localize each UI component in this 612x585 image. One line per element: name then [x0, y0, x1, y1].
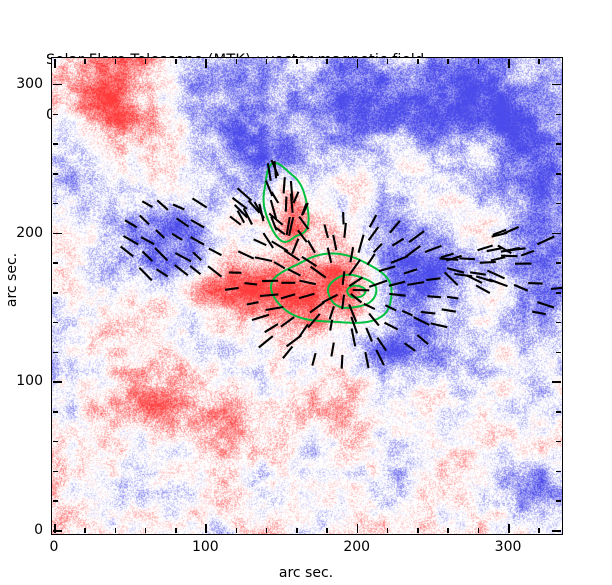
- x-major-tick: [508, 524, 510, 533]
- y-minor-tick: [53, 352, 58, 354]
- field-vector: [374, 244, 382, 253]
- field-vector: [191, 237, 205, 245]
- field-vector: [331, 343, 333, 357]
- x-minor-tick: [236, 528, 238, 533]
- field-vector: [155, 248, 168, 261]
- y-major-tick: [552, 84, 561, 86]
- x-minor-tick: [145, 528, 147, 533]
- field-vector: [406, 246, 421, 257]
- field-vector: [281, 294, 295, 298]
- field-vector: [350, 247, 353, 262]
- x-minor-tick: [296, 59, 298, 64]
- field-vector: [366, 328, 372, 342]
- field-vector: [124, 236, 139, 245]
- field-vector: [225, 288, 239, 290]
- field-vector: [551, 288, 562, 289]
- field-vector: [343, 212, 344, 224]
- field-vector: [193, 198, 207, 207]
- y-minor-tick: [53, 471, 58, 473]
- y-major-tick: [53, 530, 62, 532]
- field-vector: [294, 192, 299, 203]
- y-minor-tick: [556, 322, 561, 324]
- field-vector: [156, 230, 164, 238]
- x-major-tick: [205, 59, 207, 68]
- field-vector: [480, 262, 496, 263]
- field-vector: [255, 257, 272, 261]
- field-vector: [172, 234, 182, 240]
- field-vector: [299, 217, 308, 230]
- x-minor-tick: [417, 528, 419, 533]
- y-minor-tick: [53, 411, 58, 413]
- field-vector: [275, 227, 285, 234]
- field-vector: [191, 220, 204, 227]
- field-vector: [193, 252, 201, 260]
- field-vector: [409, 231, 424, 242]
- field-vector: [330, 306, 334, 319]
- field-vector: [537, 302, 554, 307]
- field-vector: [259, 336, 273, 347]
- x-minor-tick: [266, 528, 268, 533]
- field-vector: [439, 258, 458, 259]
- x-major-tick: [357, 524, 359, 533]
- field-vector: [427, 296, 441, 297]
- x-minor-tick: [296, 528, 298, 533]
- field-vector: [230, 216, 241, 224]
- field-vector: [288, 269, 300, 275]
- field-vector: [266, 307, 284, 310]
- field-vector: [177, 218, 189, 226]
- field-vector: [311, 267, 326, 278]
- field-vector: [514, 285, 528, 291]
- field-vector: [139, 268, 152, 281]
- y-minor-tick: [53, 441, 58, 443]
- y-major-tick: [552, 530, 561, 532]
- x-axis-title: arc sec.: [0, 565, 612, 581]
- x-minor-tick: [387, 528, 389, 533]
- field-vector: [208, 266, 222, 277]
- field-vector: [265, 324, 278, 332]
- y-tick-label: 0: [0, 522, 43, 538]
- field-vector: [447, 268, 464, 273]
- field-vector: [392, 239, 403, 246]
- field-vector: [470, 272, 486, 274]
- x-tick-label: 0: [50, 539, 59, 555]
- y-tick-label: 200: [0, 225, 43, 241]
- field-vector: [308, 241, 315, 253]
- y-minor-tick: [556, 262, 561, 264]
- field-vector: [328, 248, 332, 263]
- field-vector: [299, 294, 314, 298]
- field-vector: [376, 350, 384, 365]
- x-minor-tick: [175, 528, 177, 533]
- field-vector: [157, 269, 168, 276]
- field-vector: [292, 239, 298, 254]
- field-vector: [405, 343, 416, 351]
- field-vector: [312, 353, 315, 366]
- y-minor-tick: [556, 352, 561, 354]
- field-vector: [274, 262, 285, 268]
- contour-main-spot-core: [347, 286, 365, 298]
- y-minor-tick: [556, 203, 561, 205]
- field-vector: [141, 237, 154, 244]
- x-minor-tick: [478, 528, 480, 533]
- x-minor-tick: [538, 59, 540, 64]
- x-minor-tick: [115, 528, 117, 533]
- field-vector: [425, 246, 442, 252]
- field-vector: [417, 335, 428, 344]
- y-major-tick: [53, 84, 62, 86]
- x-major-tick: [54, 59, 56, 68]
- x-major-tick: [357, 59, 359, 68]
- field-vector: [421, 312, 435, 314]
- field-vector: [281, 317, 294, 327]
- field-vector: [324, 225, 328, 238]
- field-vector: [369, 227, 379, 240]
- field-vector: [365, 352, 368, 368]
- field-vector: [370, 215, 377, 227]
- field-vector: [343, 271, 345, 285]
- y-minor-tick: [53, 500, 58, 502]
- field-vector: [359, 235, 364, 253]
- field-vector: [260, 294, 278, 296]
- field-vector: [441, 254, 454, 258]
- field-vector: [352, 328, 356, 346]
- x-tick-label: 100: [192, 539, 219, 555]
- field-vector: [140, 215, 149, 224]
- x-minor-tick: [84, 59, 86, 64]
- field-vector: [414, 317, 430, 325]
- plot-area: [51, 57, 563, 535]
- x-major-tick: [205, 524, 207, 533]
- field-vector: [368, 254, 375, 265]
- x-minor-tick: [115, 59, 117, 64]
- y-major-tick: [53, 233, 62, 235]
- y-minor-tick: [53, 114, 58, 116]
- field-vector: [404, 269, 417, 273]
- y-major-tick: [552, 233, 561, 235]
- field-vector: [175, 253, 191, 261]
- x-minor-tick: [175, 59, 177, 64]
- field-vector: [175, 265, 188, 275]
- x-tick-label: 300: [495, 539, 522, 555]
- field-vector: [310, 302, 324, 313]
- x-tick-label: 200: [343, 539, 370, 555]
- x-minor-tick: [236, 59, 238, 64]
- y-tick-label: 300: [0, 76, 43, 92]
- y-major-tick: [552, 381, 561, 383]
- field-vector: [459, 258, 475, 259]
- field-vector: [209, 249, 222, 256]
- field-vector: [379, 266, 395, 271]
- y-minor-tick: [556, 292, 561, 294]
- field-vector: [266, 181, 273, 197]
- field-vector: [272, 192, 279, 203]
- field-vector: [431, 323, 448, 327]
- field-vector: [344, 223, 346, 238]
- field-vector: [121, 247, 134, 257]
- x-minor-tick: [387, 59, 389, 64]
- field-vector: [426, 278, 440, 280]
- field-vector: [501, 256, 518, 257]
- field-vector: [238, 251, 254, 258]
- field-vector: [532, 312, 546, 314]
- field-vector: [245, 283, 258, 285]
- y-minor-tick: [556, 173, 561, 175]
- y-major-tick: [53, 381, 62, 383]
- field-vector: [233, 198, 248, 209]
- field-vector: [190, 266, 200, 274]
- y-minor-tick: [53, 143, 58, 145]
- x-minor-tick: [326, 59, 328, 64]
- field-vector: [447, 297, 458, 299]
- field-vector: [454, 274, 472, 276]
- y-minor-tick: [556, 411, 561, 413]
- field-vector: [333, 235, 336, 250]
- x-minor-tick: [478, 59, 480, 64]
- x-major-tick: [508, 59, 510, 68]
- field-vector: [287, 335, 302, 346]
- field-vector: [142, 201, 152, 207]
- field-vector: [254, 239, 267, 245]
- x-minor-tick: [538, 528, 540, 533]
- y-minor-tick: [556, 471, 561, 473]
- y-minor-tick: [53, 262, 58, 264]
- field-vector: [247, 302, 259, 304]
- y-minor-tick: [53, 292, 58, 294]
- y-minor-tick: [556, 114, 561, 116]
- field-vector: [407, 282, 424, 285]
- y-minor-tick: [556, 441, 561, 443]
- field-vector: [442, 309, 456, 311]
- field-vector: [299, 281, 315, 285]
- y-minor-tick: [556, 500, 561, 502]
- field-vector: [284, 177, 285, 193]
- field-vector: [390, 221, 400, 233]
- field-vector: [364, 304, 375, 309]
- y-tick-label: 100: [0, 373, 43, 389]
- field-vector: [252, 315, 269, 320]
- field-vector: [377, 338, 386, 351]
- field-vector: [385, 323, 398, 330]
- field-vector: [476, 286, 490, 294]
- field-vector: [402, 311, 412, 316]
- field-vector: [528, 283, 543, 284]
- field-vector: [487, 271, 504, 279]
- field-vector: [391, 256, 408, 263]
- x-minor-tick: [447, 59, 449, 64]
- x-minor-tick: [84, 528, 86, 533]
- y-minor-tick: [556, 143, 561, 145]
- field-vector: [125, 220, 137, 227]
- field-vector: [157, 200, 168, 210]
- field-vector: [143, 252, 153, 262]
- vector-contour-overlay: [52, 58, 562, 534]
- y-minor-tick: [53, 203, 58, 205]
- field-vector: [173, 205, 184, 210]
- x-minor-tick: [266, 59, 268, 64]
- field-vector: [286, 197, 287, 212]
- field-vector: [342, 355, 343, 369]
- y-minor-tick: [53, 322, 58, 324]
- magnetogram-figure: Solar Flare Telescope (MTK) : vector mag…: [0, 0, 612, 585]
- y-minor-tick: [53, 173, 58, 175]
- x-minor-tick: [447, 528, 449, 533]
- x-minor-tick: [145, 59, 147, 64]
- field-vector: [491, 257, 505, 260]
- field-vector: [537, 237, 554, 245]
- y-axis-title: arc sec.: [4, 240, 20, 320]
- field-vector: [283, 347, 293, 359]
- x-minor-tick: [417, 59, 419, 64]
- field-vector: [487, 248, 502, 251]
- x-minor-tick: [326, 528, 328, 533]
- field-vector: [238, 188, 252, 200]
- field-vector: [521, 251, 534, 256]
